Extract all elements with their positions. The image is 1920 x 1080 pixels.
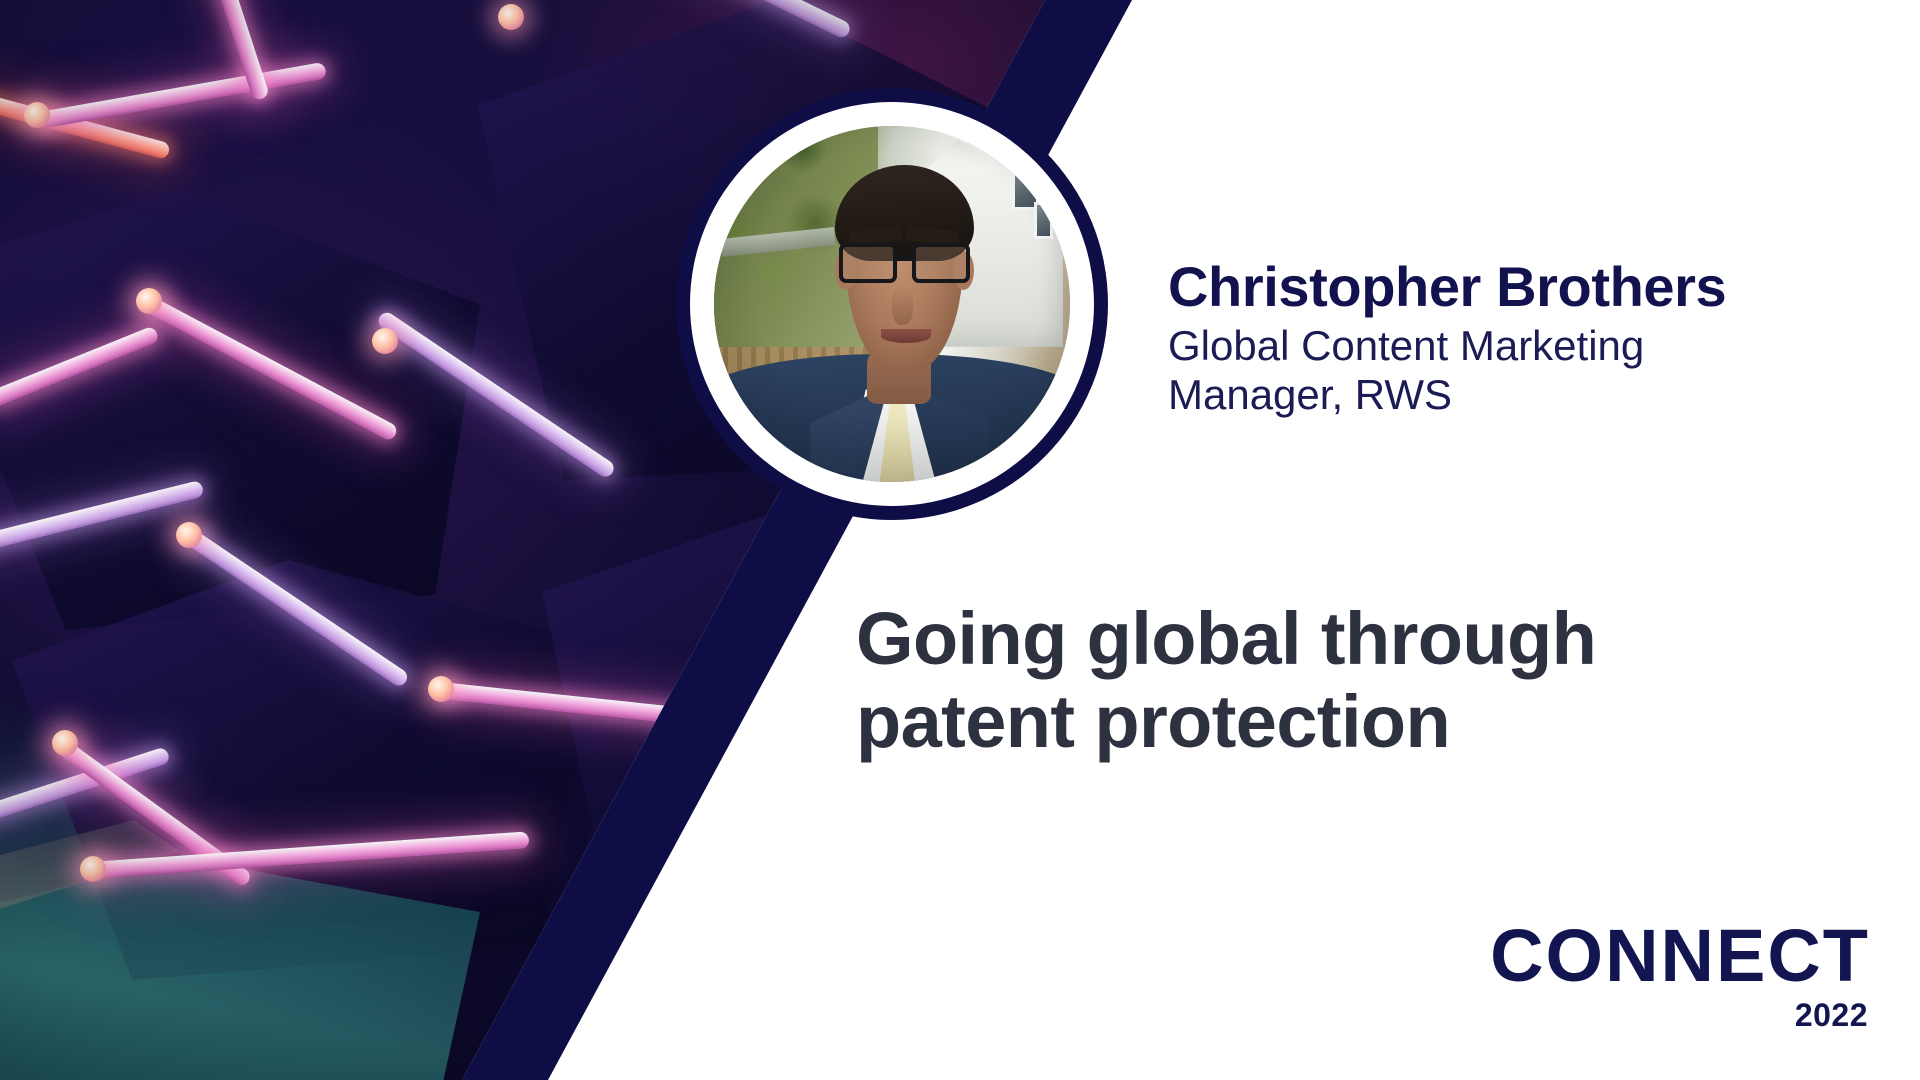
- avatar: [676, 88, 1108, 520]
- connect-wordmark: CONNECT: [1490, 920, 1870, 993]
- speaker-name: Christopher Brothers: [1168, 258, 1868, 316]
- connect-logo: CONNECT 2022: [1490, 920, 1870, 1034]
- neon-node: [816, 708, 842, 734]
- speaker-role-line-1: Global Content Marketing: [1168, 322, 1738, 371]
- speaker-block: Christopher Brothers Global Content Mark…: [1168, 258, 1868, 420]
- speaker-role-line-2: Manager, RWS: [1168, 371, 1738, 420]
- neon-strut: [580, 939, 940, 975]
- title-slide: Christopher Brothers Global Content Mark…: [0, 0, 1920, 1080]
- connect-year: 2022: [1490, 997, 1868, 1034]
- session-title-line-1: Going global through: [856, 598, 1856, 681]
- session-title-line-2: patent protection: [856, 681, 1856, 764]
- session-title: Going global through patent protection: [856, 598, 1856, 764]
- avatar-shading-overlay: [714, 126, 1070, 482]
- speaker-role: Global Content Marketing Manager, RWS: [1168, 322, 1738, 419]
- avatar-photo: [714, 126, 1070, 482]
